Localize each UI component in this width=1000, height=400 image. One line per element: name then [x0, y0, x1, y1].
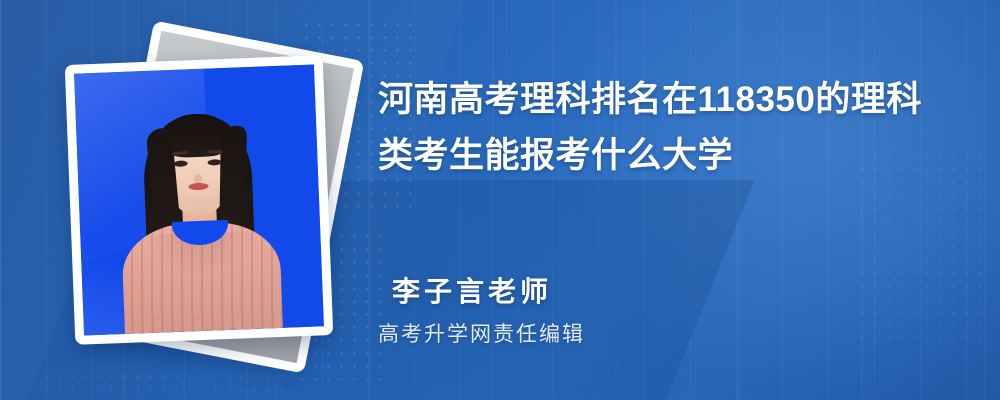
banner-text-block: 河南高考理科排名在118350的理科 类考生能报考什么大学 李子言老师 高考升学… [378, 0, 978, 400]
photo-card-stack [44, 26, 364, 372]
banner-title-line-2: 类考生能报考什么大学 [378, 136, 733, 175]
portrait-eyebrow-right [207, 150, 222, 153]
portrait-torso [121, 220, 283, 334]
dot-pattern-bottom-left [40, 370, 300, 396]
article-banner: 河南高考理科排名在118350的理科 类考生能报考什么大学 李子言老师 高考升学… [0, 0, 1000, 400]
portrait-eye-right [207, 159, 221, 166]
portrait-figure [74, 64, 324, 335]
banner-title: 河南高考理科排名在118350的理科 类考生能报考什么大学 [378, 72, 958, 184]
banner-title-line-1: 河南高考理科排名在118350的理科 [378, 80, 922, 119]
portrait-photo [74, 64, 324, 335]
author-role: 高考升学网责任编辑 [378, 318, 585, 348]
photo-card-front [65, 55, 334, 345]
author-name: 李子言老师 [392, 270, 552, 310]
portrait-eye-left [173, 160, 187, 167]
